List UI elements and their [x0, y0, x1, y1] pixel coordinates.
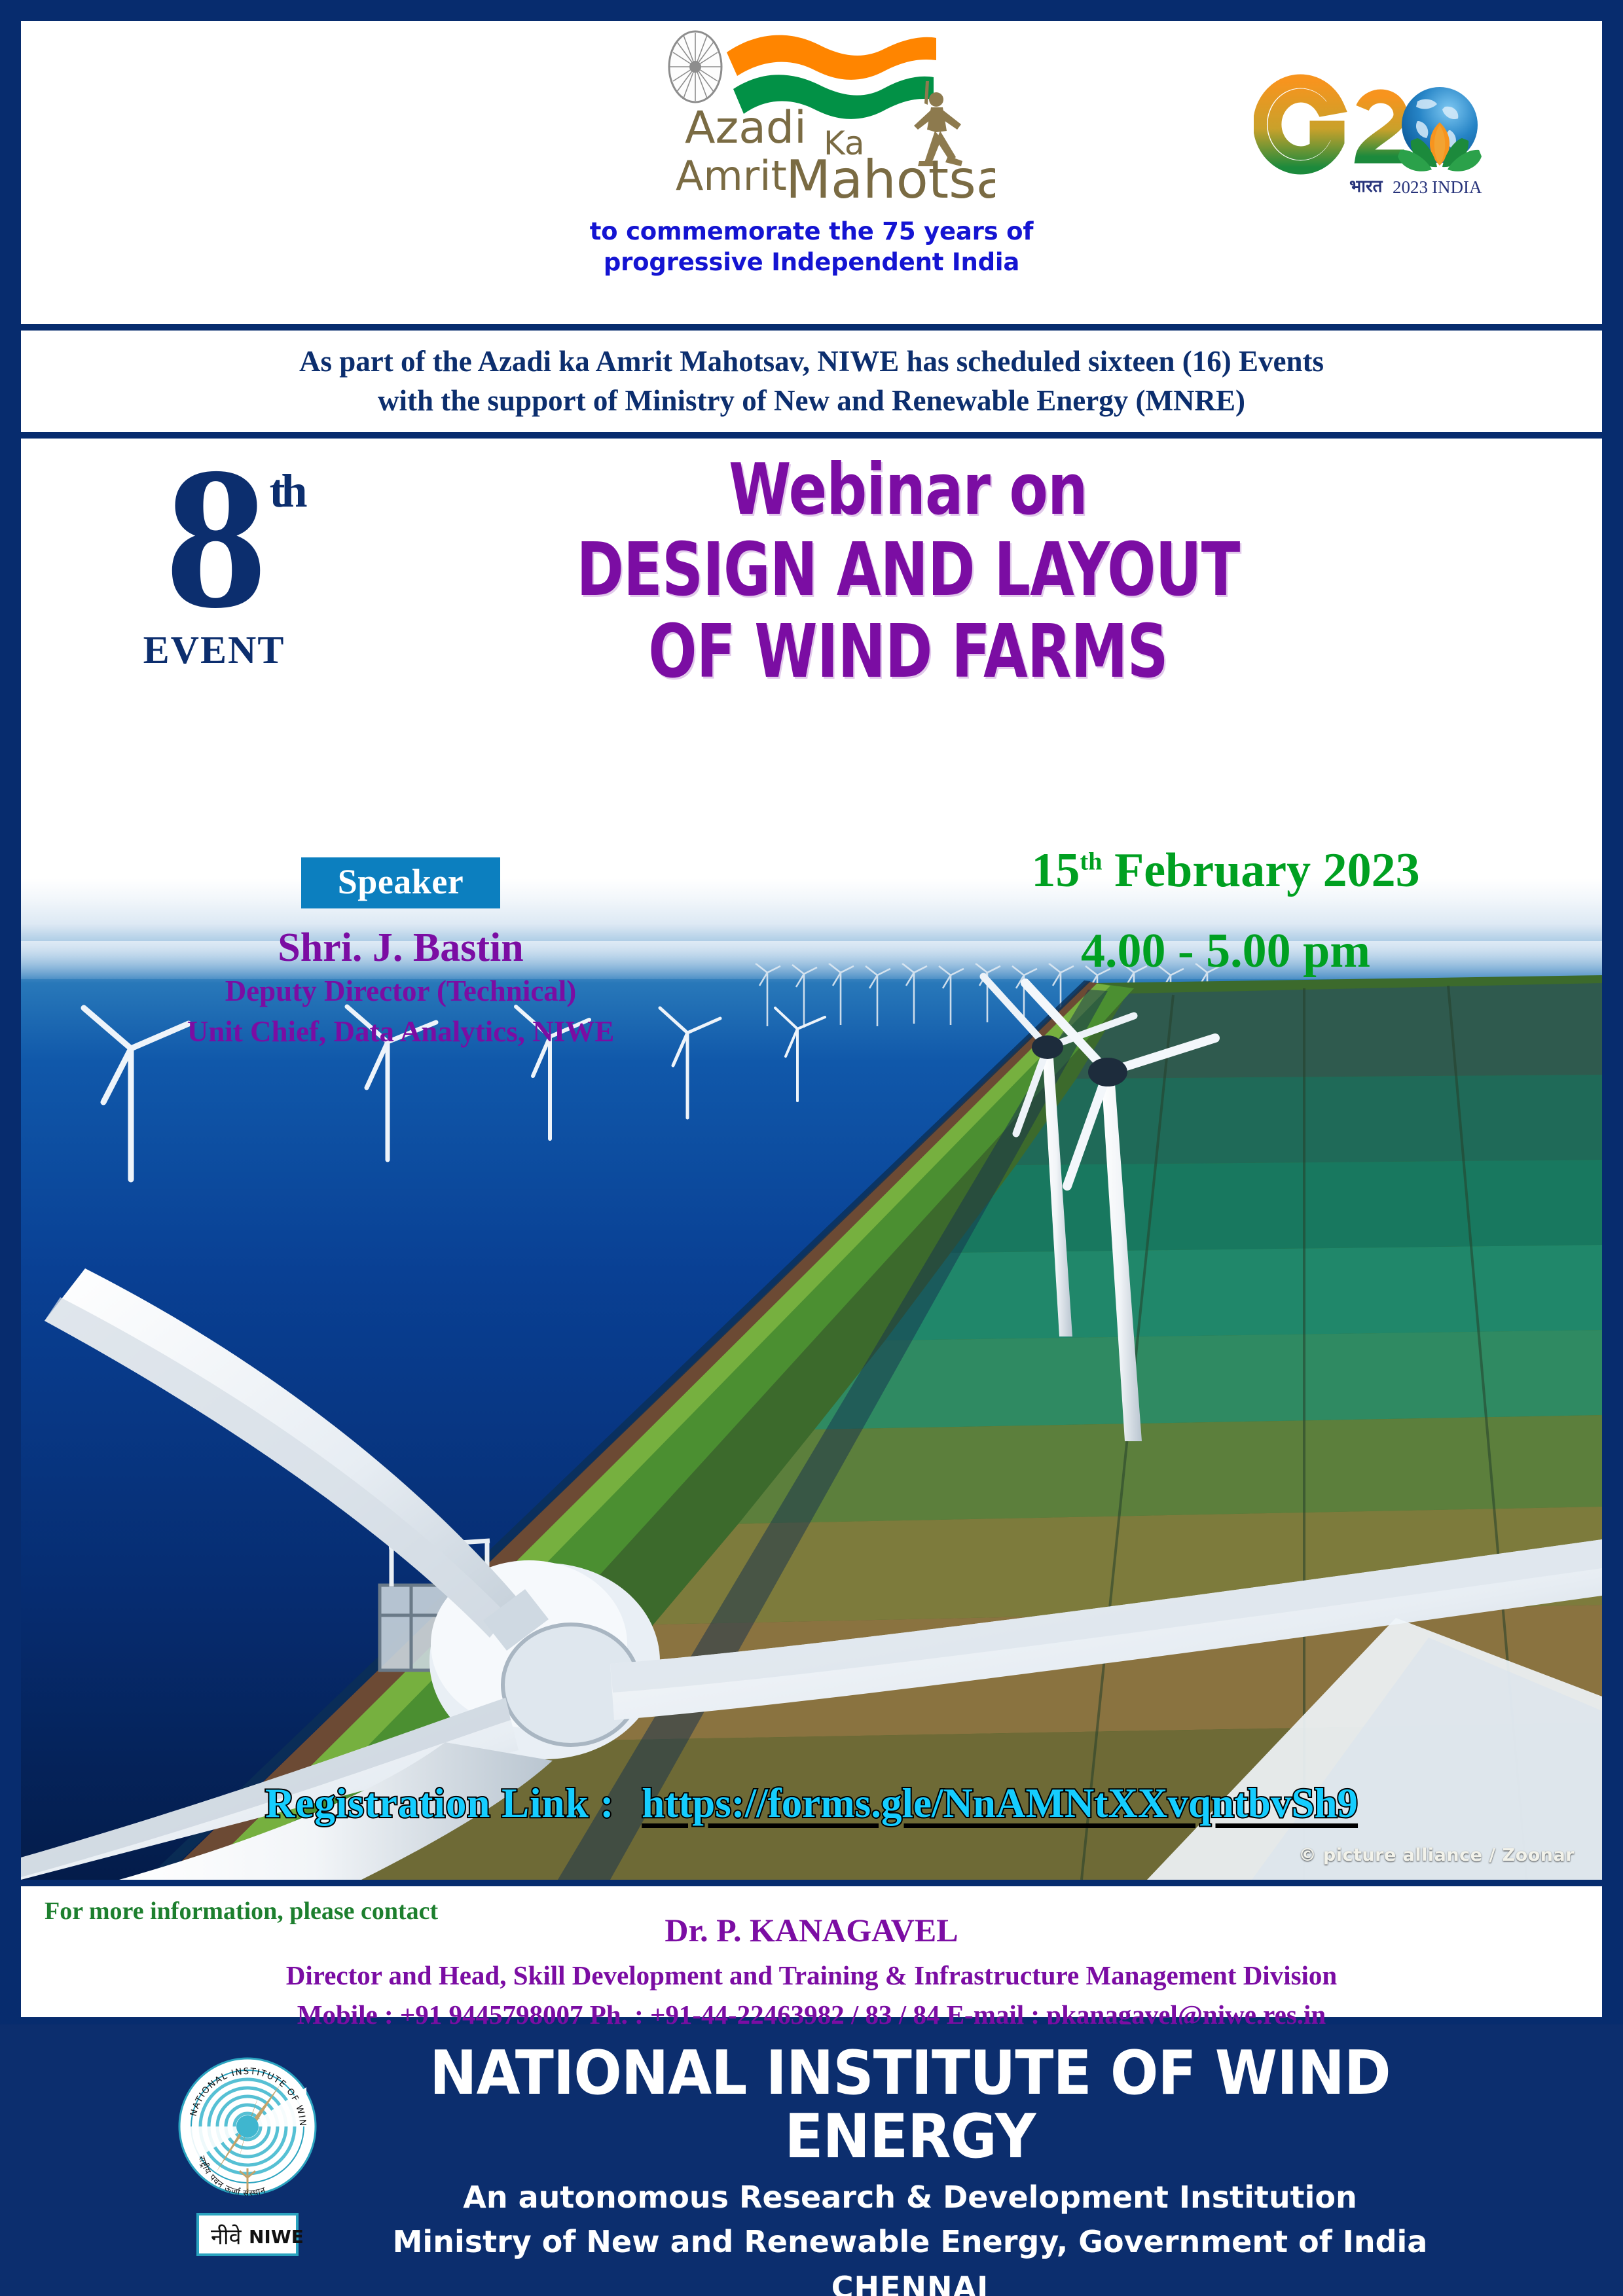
title-line-3: OF WIND FARMS	[543, 613, 1273, 691]
poster-root: Azadi Ka Amrit Mahotsav to commemorate t…	[0, 0, 1623, 2296]
commemorate-caption: to commemorate the 75 years of progressi…	[517, 216, 1106, 278]
svg-text:Mahotsav: Mahotsav	[786, 149, 995, 210]
svg-text:Azadi: Azadi	[685, 102, 807, 154]
g20-india-2023-logo: भारत 2023 INDIA	[1254, 44, 1489, 207]
niwe-seal-logo: NATIONAL INSTITUTE OF WIND ENERGY राष्ट्…	[175, 2048, 319, 2264]
footer-sub-1: An autonomous Research & Development Ins…	[354, 2179, 1467, 2215]
event-date-month-year: February 2023	[1103, 844, 1420, 897]
svg-text:INDIA: INDIA	[1432, 177, 1482, 197]
contact-name: Dr. P. KANAGAVEL	[21, 1886, 1602, 1949]
mnre-banner: As part of the Azadi ka Amrit Mahotsav, …	[21, 331, 1602, 432]
schedule-block: 15th February 2023 4.00 - 5.00 pm	[964, 844, 1487, 978]
title-line-2: DESIGN AND LAYOUT	[543, 531, 1273, 609]
footer-org-name: NATIONAL INSTITUTE OF WIND ENERGY	[393, 2041, 1428, 2168]
webinar-title: Webinar on DESIGN AND LAYOUT OF WIND FAR…	[440, 453, 1376, 691]
event-date-day-suffix: th	[1080, 848, 1102, 875]
event-time: 4.00 - 5.00 pm	[964, 925, 1487, 978]
contact-panel: For more information, please contact Dr.…	[21, 1886, 1602, 2017]
main-content-panel: © picture alliance / Zoonar 8 th EVENT W…	[21, 439, 1602, 1880]
footer: NATIONAL INSTITUTE OF WIND ENERGY राष्ट्…	[0, 2024, 1623, 2296]
speaker-role-line-2: Unit Chief, Data Analytics, NIWE	[139, 1013, 663, 1051]
speaker-tag: Speaker	[301, 857, 501, 908]
svg-text:भारत: भारत	[1349, 177, 1383, 196]
mnre-line-2: with the support of Ministry of New and …	[299, 382, 1324, 420]
speaker-name: Shri. J. Bastin	[139, 925, 663, 970]
speaker-block: Speaker Shri. J. Bastin Deputy Director …	[139, 857, 663, 1050]
registration-link[interactable]: https://forms.gle/NnAMNtXXvqntbvSh9	[642, 1780, 1358, 1826]
footer-text-block: NATIONAL INSTITUTE OF WIND ENERGY An aut…	[354, 2041, 1467, 2296]
event-date-day: 15	[1031, 844, 1080, 897]
svg-text:2023: 2023	[1393, 177, 1428, 197]
registration-label: Registration Link :	[265, 1780, 615, 1826]
header-logo-panel: Azadi Ka Amrit Mahotsav to commemorate t…	[21, 21, 1602, 324]
footer-sub-2: Ministry of New and Renewable Energy, Go…	[354, 2224, 1467, 2259]
svg-text:नीवे: नीवे	[211, 2224, 242, 2250]
photo-credit: © picture alliance / Zoonar	[1299, 1845, 1575, 1865]
event-number-badge: 8 th EVENT	[106, 452, 322, 673]
azadi-ka-amrit-mahotsav-logo: Azadi Ka Amrit Mahotsav	[629, 26, 995, 216]
speaker-role-line-1: Deputy Director (Technical)	[139, 973, 663, 1011]
event-ordinal-suffix: th	[269, 467, 303, 514]
footer-city: CHENNAI	[354, 2270, 1467, 2296]
contact-designation: Director and Head, Skill Development and…	[21, 1949, 1602, 1991]
registration-row: Registration Link : https://forms.gle/Nn…	[21, 1780, 1602, 1827]
svg-text:Amrit: Amrit	[676, 152, 787, 200]
event-date: 15th February 2023	[964, 844, 1487, 897]
svg-text:NIWE: NIWE	[249, 2226, 304, 2248]
mnre-line-1: As part of the Azadi ka Amrit Mahotsav, …	[299, 342, 1324, 381]
event-number: 8	[166, 439, 263, 651]
title-line-1: Webinar on	[534, 453, 1283, 528]
